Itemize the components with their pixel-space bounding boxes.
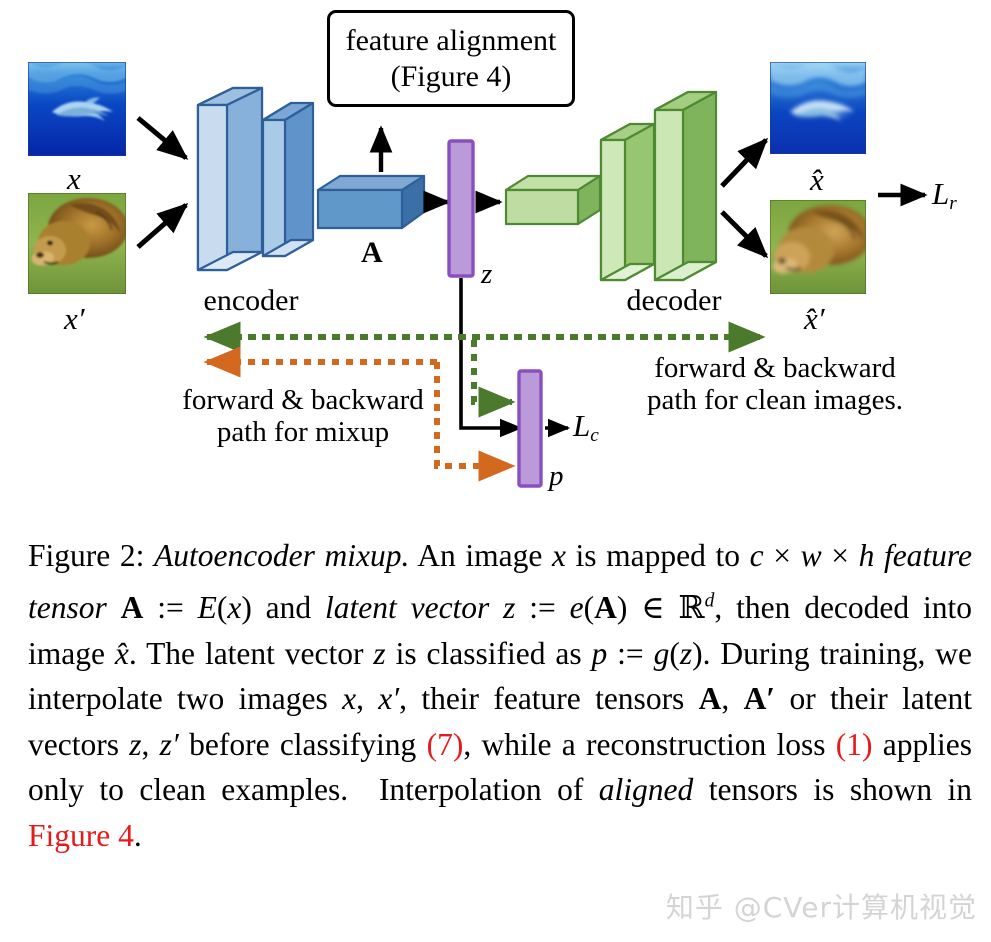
prediction-vector-p-bar [519, 371, 541, 486]
mixup-path-caption: forward & backward path for mixup [182, 384, 424, 449]
caption-ref-eq7[interactable]: (7) [427, 727, 464, 762]
input-x-label: x [67, 163, 81, 194]
feature-alignment-line2: (Figure 4) [391, 59, 512, 95]
caption-prefix: Figure 2: [28, 538, 144, 573]
feature-tensor-A-label: A [361, 238, 383, 268]
classification-loss-label: Lc [573, 410, 599, 445]
lion-input-image [28, 193, 128, 294]
arrow-decoder-to-xhatprime [722, 212, 766, 256]
whale-input-image [28, 60, 126, 156]
latent-z-label: z [481, 260, 492, 289]
mixup-path-caption-line2: path for mixup [182, 416, 424, 448]
arrow-z-to-p [461, 278, 520, 428]
arrow-x-to-encoder [138, 118, 186, 158]
caption-body: An image x is mapped to c × w × h featur… [28, 538, 972, 853]
clean-path-caption: forward & backward path for clean images… [647, 352, 903, 417]
arrow-xprime-to-encoder [138, 205, 186, 247]
latent-vector-z-bar [449, 141, 473, 276]
lion-reconstruction-image [770, 200, 872, 294]
clean-path-caption-line1: forward & backward [647, 352, 903, 384]
clean-path-branch-to-p [474, 340, 512, 402]
decoder-label: decoder [627, 284, 722, 318]
autoencoder-mixup-diagram: feature alignment (Figure 4) x x′ encode… [0, 0, 991, 520]
figure-page: feature alignment (Figure 4) x x′ encode… [0, 0, 991, 942]
site-watermark: 知乎 @CVer计算机视觉 [666, 886, 977, 926]
mixup-path-caption-line1: forward & backward [182, 384, 424, 416]
caption-ref-eq1[interactable]: (1) [836, 727, 873, 762]
figure-caption: Figure 2: Autoencoder mixup. An image x … [28, 533, 972, 858]
prediction-p-label: p [549, 462, 564, 491]
reconstruction-loss-label: Lr [932, 178, 957, 213]
encoder-block [198, 88, 424, 270]
arrow-decoder-to-xhat [722, 140, 766, 186]
mixup-path-branch-to-p [437, 362, 512, 466]
feature-alignment-line1: feature alignment [346, 23, 557, 59]
clean-path-caption-line2: path for clean images. [647, 384, 903, 416]
output-xhatprime-label: x̂′ [804, 303, 825, 334]
decoder-block [506, 92, 716, 280]
input-xprime-label: x′ [64, 303, 85, 334]
caption-ref-figure4[interactable]: Figure 4 [28, 818, 134, 853]
output-xhat-label: x̂ [810, 164, 824, 195]
encoder-label: encoder [204, 284, 299, 318]
whale-reconstruction-image [770, 62, 866, 154]
caption-title: Autoencoder mixup. [154, 538, 409, 573]
feature-alignment-box: feature alignment (Figure 4) [327, 10, 575, 107]
